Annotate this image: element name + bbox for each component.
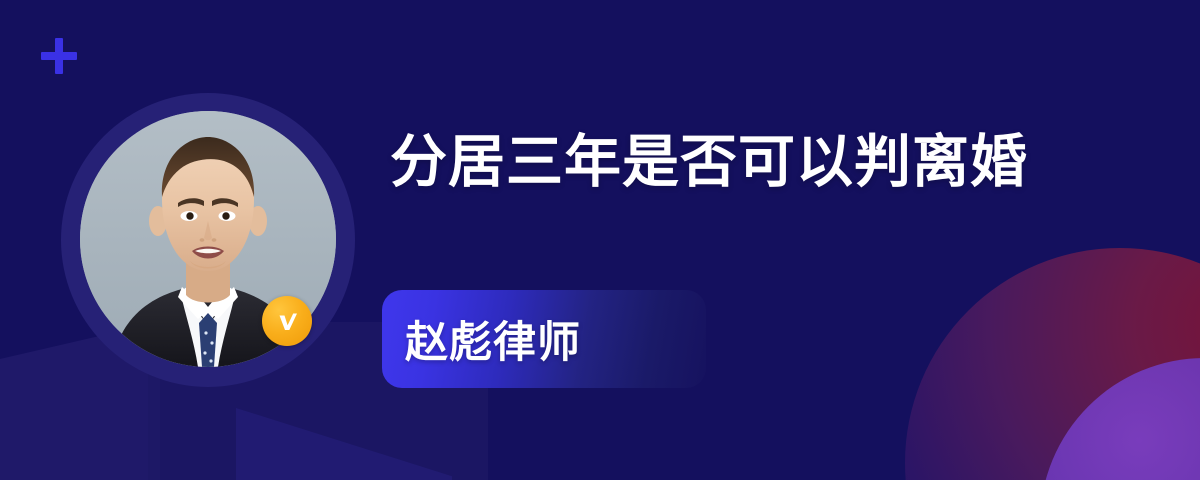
avatar	[61, 93, 355, 387]
lawyer-name-pill[interactable]: 赵彪律师	[382, 290, 706, 388]
lawyer-name-label: 赵彪律师	[405, 308, 581, 370]
video-cover-card: 分居三年是否可以判离婚 赵彪律师	[0, 0, 1200, 480]
page-title: 分居三年是否可以判离婚	[390, 126, 1090, 198]
verified-check-icon	[262, 296, 312, 346]
plus-icon	[41, 38, 77, 74]
